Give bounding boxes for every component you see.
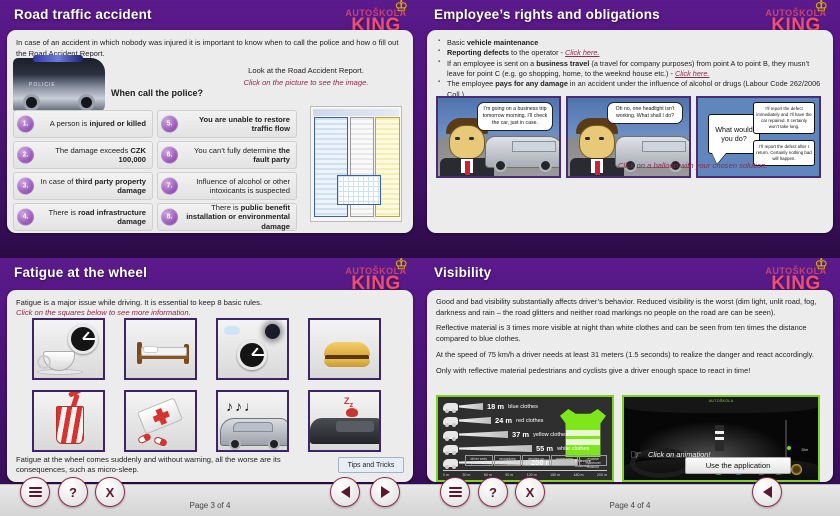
face <box>579 125 615 159</box>
rule-number: 7. <box>161 178 178 195</box>
bullet-item: Reporting defects to the operator - Clic… <box>438 48 824 58</box>
car-window <box>512 141 556 152</box>
rule-number: 1. <box>17 116 34 133</box>
road-pole <box>785 420 787 460</box>
eye-left <box>455 137 460 140</box>
pedestrian-figure <box>715 425 724 451</box>
paragraph: At the speed of 75 km/h a driver needs a… <box>436 350 824 361</box>
wheel <box>494 159 507 172</box>
rule-item[interactable]: 6. You can’t fully determine the fault p… <box>157 141 297 169</box>
fatigue-tiles: ♪♪♩ Zz <box>7 318 413 452</box>
police-car-image: POLICIE <box>13 58 105 112</box>
rules-column-right: 5. You are unable to restore traffic flo… <box>157 110 297 233</box>
phase-label: decides on maneuver <box>522 455 550 466</box>
rule-item[interactable]: 2. The damage exceeds CZK 100,000 <box>13 141 153 169</box>
car-icon <box>310 418 381 444</box>
rule-item[interactable]: 1. A person is injured or killed <box>13 110 153 138</box>
beam-bar <box>459 417 491 424</box>
speech-bubble: I’m going on a business trip tomorrow mo… <box>477 102 553 131</box>
use-application-button[interactable]: Use the application <box>685 457 791 474</box>
coffee-cup-icon <box>43 351 75 371</box>
rule-number: 6. <box>161 147 178 164</box>
content-card: Fatigue is a major issue while driving. … <box>7 290 413 482</box>
tile-row-1 <box>7 318 413 380</box>
wheel-rear <box>78 94 95 111</box>
tie <box>595 161 600 175</box>
prev-triangle-icon <box>341 486 350 498</box>
bar-value: 24 m <box>495 416 512 425</box>
paragraph: Good and bad visibility substantially af… <box>436 297 824 318</box>
balloon-hint: Click on a balloon with your chosen solu… <box>618 160 808 171</box>
rule-item[interactable]: 8. There is public benefit installation … <box>157 203 297 231</box>
rule-number: 2. <box>17 147 34 164</box>
zzz-icon: Zz <box>344 396 353 409</box>
car-icon <box>443 417 458 425</box>
beam-bar <box>459 431 508 438</box>
car-icon <box>220 418 289 446</box>
tile-bed[interactable] <box>124 318 197 380</box>
rule-item[interactable]: 7. Influence of alcohol or other intoxic… <box>157 172 297 200</box>
bar-value: 37 m <box>512 430 529 439</box>
car-image <box>485 136 561 168</box>
rule-text: In case of third party property damage <box>40 177 146 196</box>
visibility-distance-chart[interactable]: 18 m blue clothes 24 m red clothes 37 m … <box>436 395 614 482</box>
chart-bar-row: 55 m white clothes <box>443 443 589 454</box>
rule-item[interactable]: 3. In case of third party property damag… <box>13 172 153 200</box>
chart-bar-row: 37 m yellow clothes <box>443 429 568 440</box>
previous-page-button[interactable] <box>752 477 782 507</box>
road-accident-report-thumbnail[interactable] <box>310 106 402 222</box>
tick-label: 200 m <box>597 473 607 477</box>
first-aid-kit-icon <box>137 397 183 434</box>
fatigue-footer-text: Fatigue at the wheel comes suddenly and … <box>16 455 326 476</box>
panel-employee-rights: Employee’s rights and obligations ♔ AUTO… <box>420 0 840 258</box>
rule-text: There is road infrastructure damage <box>40 208 146 227</box>
clock-icon <box>68 324 98 354</box>
car-window <box>642 141 686 152</box>
distance-marker-label: 20m <box>801 448 808 452</box>
sleeping-head <box>346 408 358 417</box>
bar-label: blue clothes <box>508 404 538 410</box>
panel-title: Visibility <box>434 265 491 280</box>
tick-label: 0 m <box>443 473 449 477</box>
bar-label: red clothes <box>516 418 543 424</box>
panel-title: Employee’s rights and obligations <box>434 7 660 22</box>
rule-text: Influence of alcohol or other intoxicant… <box>184 177 290 196</box>
bed-icon <box>136 342 190 364</box>
distance-marker-dot <box>787 446 791 450</box>
tile-night-clock[interactable] <box>216 318 289 380</box>
night-brand-label: AUTOŠKOLA <box>709 399 734 403</box>
paragraph: Only with reflective material pedestrian… <box>436 366 824 377</box>
wheel <box>539 159 552 172</box>
bullet-item: Basic vehicle maintenance <box>438 38 824 48</box>
visibility-text: Good and bad visibility substantially af… <box>436 297 824 376</box>
chart-bar-row: 24 m red clothes <box>443 415 543 426</box>
hamburger-menu-icon <box>449 487 462 497</box>
next-page-button[interactable] <box>370 477 400 507</box>
clock-icon <box>237 340 267 370</box>
chart-scale: driver sees pedestrian recognizes danger… <box>443 455 607 477</box>
pill-icon <box>153 436 168 447</box>
burger-icon <box>324 342 370 366</box>
form-sketch-grid <box>337 175 381 205</box>
wheel-front <box>23 94 40 111</box>
car-icon <box>443 445 458 453</box>
chart-bar-row: 18 m blue clothes <box>443 401 538 412</box>
phase-label: evasive maneuver finished <box>579 455 607 466</box>
subheading: When call the police? <box>111 88 203 98</box>
bar-label: yellow clothes <box>533 432 568 438</box>
soda-cup-icon <box>56 406 84 444</box>
panel-road-traffic-accident: Road traffic accident ♔ AUTOŠKOLA KING I… <box>0 0 420 258</box>
rule-text: There is public benefit installation or … <box>184 203 290 231</box>
tick-label: 30 m <box>462 473 470 477</box>
comic-frame-1[interactable]: I’m going on a business trip tomorrow mo… <box>436 96 561 178</box>
beam-bar <box>459 403 483 410</box>
content-card: Basic vehicle maintenance Reporting defe… <box>427 30 833 233</box>
reflective-stripe <box>715 431 724 434</box>
phase-label: driver sees pedestrian <box>465 455 493 466</box>
police-text: POLICIE <box>29 82 56 88</box>
rights-bullet-list: Basic vehicle maintenance Reporting defe… <box>438 38 824 100</box>
previous-page-button[interactable] <box>330 477 360 507</box>
tile-car-music[interactable]: ♪♪♩ <box>216 390 289 452</box>
bar-label: white clothes <box>557 446 589 452</box>
fatigue-hint: Click on the squares below to see more i… <box>16 308 404 317</box>
report-note-block: Look at the Road Accident Report. Click … <box>211 66 401 87</box>
tick-label: 150 m <box>550 473 560 477</box>
lesson-grid: Road traffic accident ♔ AUTOŠKOLA KING I… <box>0 0 840 516</box>
fatigue-intro: Fatigue is a major issue while driving. … <box>16 297 404 308</box>
rule-text: You are unable to restore traffic flow <box>184 115 290 134</box>
car-icon <box>443 431 458 439</box>
panel-visibility: Visibility ♔ AUTOŠKOLA KING Good and bad… <box>420 258 840 516</box>
rules-column-left: 1. A person is injured or killed 2. The … <box>13 110 153 233</box>
phase-label: recognizes danger <box>494 455 522 466</box>
bar-value: 18 m <box>487 402 504 411</box>
phase-label: maneuvers <box>551 455 579 466</box>
rule-text: The damage exceeds CZK 100,000 <box>40 146 146 165</box>
tick-label: 180 m <box>574 473 584 477</box>
eye-right <box>469 137 474 140</box>
rule-number: 8. <box>161 209 178 226</box>
rule-number: 3. <box>17 178 34 195</box>
rule-item[interactable]: 5. You are unable to restore traffic flo… <box>157 110 297 138</box>
click-here-link[interactable]: Click here. <box>675 69 709 78</box>
eye-right <box>599 137 604 140</box>
form-header <box>313 109 399 116</box>
music-note-icon: ♪♪♩ <box>226 398 260 414</box>
rule-item[interactable]: 4. There is road infrastructure damage <box>13 203 153 231</box>
page-indicator: Page 3 of 4 <box>0 501 420 510</box>
content-card: Good and bad visibility substantially af… <box>427 290 833 482</box>
gauge-icon <box>791 464 802 475</box>
report-hint: Click on the picture to see the image. <box>211 78 401 87</box>
tick-label: 90 m <box>505 473 513 477</box>
report-note: Look at the Road Accident Report. <box>211 66 401 75</box>
panel-fatigue-at-the-wheel: Fatigue at the wheel ♔ AUTOŠKOLA KING Fa… <box>0 258 420 516</box>
rule-number: 5. <box>161 116 178 133</box>
tile-first-aid-kit[interactable] <box>124 390 197 452</box>
cloud-icon <box>224 326 240 335</box>
driver-character <box>576 118 618 176</box>
prev-triangle-icon <box>763 486 772 498</box>
axis-line <box>443 470 607 471</box>
panel-title: Fatigue at the wheel <box>14 265 147 280</box>
next-triangle-icon <box>381 486 390 498</box>
tile-coffee-cup-clock[interactable] <box>32 318 105 380</box>
light-bar-icon <box>33 55 83 62</box>
moon-icon <box>265 324 280 339</box>
pill-icon <box>137 433 152 445</box>
speech-bubble: Oh no, one headlight isn’t working. What… <box>607 102 683 124</box>
footer-bar: ? X Page 4 of 4 <box>420 484 840 516</box>
rule-text: You can’t fully determine the fault part… <box>184 146 290 165</box>
reflective-stripe <box>715 437 724 440</box>
car-icon <box>443 403 458 411</box>
footer-bar: ? X Page 3 of 4 <box>0 484 420 516</box>
panel-title: Road traffic accident <box>14 7 152 22</box>
axis-ticks: 0 m 30 m 60 m 90 m 120 m 150 m 180 m 200… <box>443 473 607 477</box>
hand-cursor-icon: ☞ <box>630 447 642 463</box>
tile-soda-drink[interactable] <box>32 390 105 452</box>
rule-number: 4. <box>17 209 34 226</box>
bullet-item: If an employee is sent on a business tra… <box>438 59 824 80</box>
answer-balloon-1[interactable]: I’ll report the defect immediately and I… <box>753 102 815 134</box>
beam-bar <box>459 445 532 452</box>
tile-sleeping-driver[interactable]: Zz <box>308 390 381 452</box>
tips-and-tricks-button[interactable]: Tips and Tricks <box>338 457 404 473</box>
rule-text: A person is injured or killed <box>50 119 146 128</box>
tile-row-2: ♪♪♩ Zz <box>7 390 413 452</box>
phase-labels: driver sees pedestrian recognizes danger… <box>465 455 607 466</box>
tie <box>465 161 470 175</box>
eye-left <box>585 137 590 140</box>
click-here-link[interactable]: Click here. <box>565 48 599 57</box>
tile-burger[interactable] <box>308 318 381 380</box>
content-card: In case of an accident in which nobody w… <box>7 30 413 233</box>
hamburger-menu-icon <box>29 487 42 497</box>
paragraph: Reflective material is 3 times more visi… <box>436 323 824 344</box>
bar-value: 55 m <box>536 444 553 453</box>
